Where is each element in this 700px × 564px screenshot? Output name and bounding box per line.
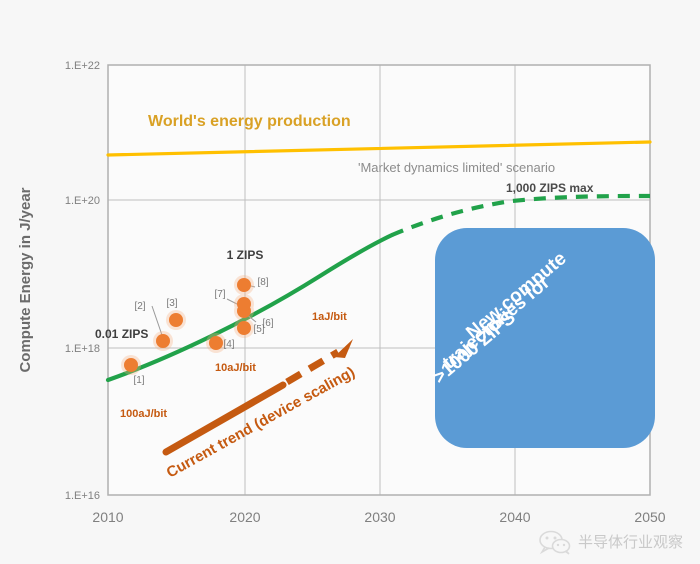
data-point-2 — [156, 334, 170, 348]
zips-max-label: 1,000 ZIPS max — [506, 181, 594, 195]
data-point-4 — [209, 336, 223, 350]
xtick-label-2040: 2040 — [499, 509, 530, 525]
chart-page: 1.E+22 1.E+20 1.E+18 1.E+16 2010 2020 20… — [0, 0, 700, 564]
xtick-label-2020: 2020 — [229, 509, 260, 525]
data-point-label-6: [6] — [262, 318, 273, 329]
y-axis-label: Compute Energy in J/year — [17, 187, 34, 372]
data-point-5 — [237, 321, 251, 335]
ytick-label-1e20: 1.E+20 — [65, 195, 100, 207]
data-point-8 — [237, 278, 251, 292]
watermark-text: 半导体行业观察 — [578, 533, 683, 551]
data-point-label-2: [2] — [134, 301, 145, 312]
data-point-3 — [169, 313, 183, 327]
data-point-label-3: [3] — [166, 298, 177, 309]
data-point-7 — [237, 297, 251, 311]
energy-per-bit-label-1aj: 1aJ/bit — [312, 311, 347, 323]
market-dynamics-label: 'Market dynamics limited' scenario — [358, 160, 555, 175]
energy-per-bit-label-10aj: 10aJ/bit — [215, 362, 256, 374]
xtick-label-2010: 2010 — [92, 509, 123, 525]
xtick-label-2050: 2050 — [634, 509, 665, 525]
one-zips-label: 1 ZIPS — [227, 248, 264, 262]
data-point-label-4: [4] — [223, 339, 234, 350]
data-point-label-1: [1] — [133, 375, 144, 386]
data-point-label-7: [7] — [214, 289, 225, 300]
data-point-1 — [124, 358, 138, 372]
ytick-label-1e18: 1.E+18 — [65, 343, 100, 355]
data-point-label-8: [8] — [257, 277, 268, 288]
xtick-label-2030: 2030 — [364, 509, 395, 525]
hundredth-zips-label: 0.01 ZIPS — [95, 327, 148, 341]
ytick-label-1e22: 1.E+22 — [65, 60, 100, 72]
energy-per-bit-label-100aj: 100aJ/bit — [120, 408, 167, 420]
compute-energy-chart: 1.E+22 1.E+20 1.E+18 1.E+16 2010 2020 20… — [0, 0, 700, 564]
world-energy-production-label: World's energy production — [148, 113, 351, 130]
ytick-label-1e16: 1.E+16 — [65, 490, 100, 502]
